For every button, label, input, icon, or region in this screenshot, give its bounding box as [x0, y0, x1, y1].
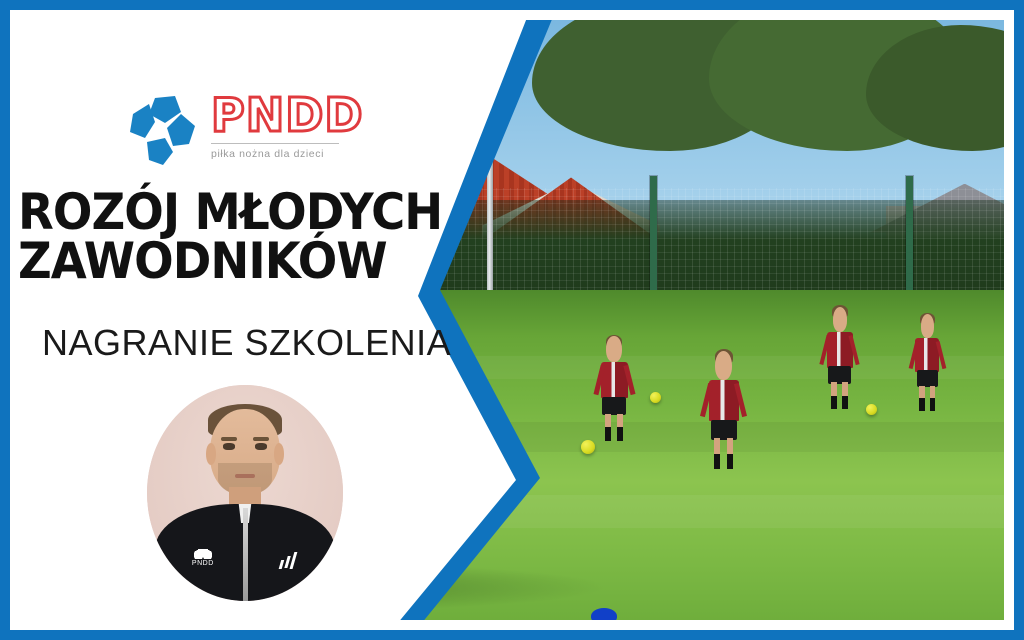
logo-wordmark: PNDD piłka nożna dla dzieci	[211, 92, 341, 160]
page-title: ROZÓJ MŁODYCH ZAWODNIKÓW	[18, 188, 455, 286]
avatar: PNDD	[147, 385, 343, 601]
player	[709, 380, 739, 466]
avatar-eyebrow	[221, 437, 237, 441]
avatar-eye	[255, 443, 267, 449]
avatar-ear	[206, 443, 216, 465]
jacket-pndd-logo: PNDD	[186, 549, 219, 577]
headline-line-2: ZAWODNIKÓW	[18, 237, 455, 286]
avatar-mouth	[235, 474, 255, 478]
logo-divider	[211, 143, 339, 144]
training-cone	[591, 608, 617, 620]
brand-tagline: piłka nożna dla dzieci	[211, 148, 341, 160]
subtitle: NAGRANIE SZKOLENIA	[42, 322, 482, 364]
pndd-logo: PNDD piłka nożna dla dzieci	[125, 92, 340, 172]
football-ball-icon	[194, 549, 212, 559]
avatar-eyebrow	[253, 437, 269, 441]
poster: PNDD piłka nożna dla dzieci ROZÓJ MŁODYC…	[0, 0, 1024, 640]
brand-name: PNDD	[211, 92, 341, 138]
avatar-zipper	[243, 508, 248, 601]
player	[915, 338, 939, 408]
jacket-logo-text: PNDD	[192, 560, 214, 567]
player	[601, 362, 628, 438]
ball	[650, 392, 661, 403]
adidas-stripes-icon	[280, 551, 305, 568]
football-ball-icon	[125, 96, 197, 166]
ball	[581, 440, 595, 454]
avatar-eye	[223, 443, 235, 449]
headline-line-1: ROZÓJ MŁODYCH	[18, 188, 455, 237]
player	[827, 332, 853, 406]
